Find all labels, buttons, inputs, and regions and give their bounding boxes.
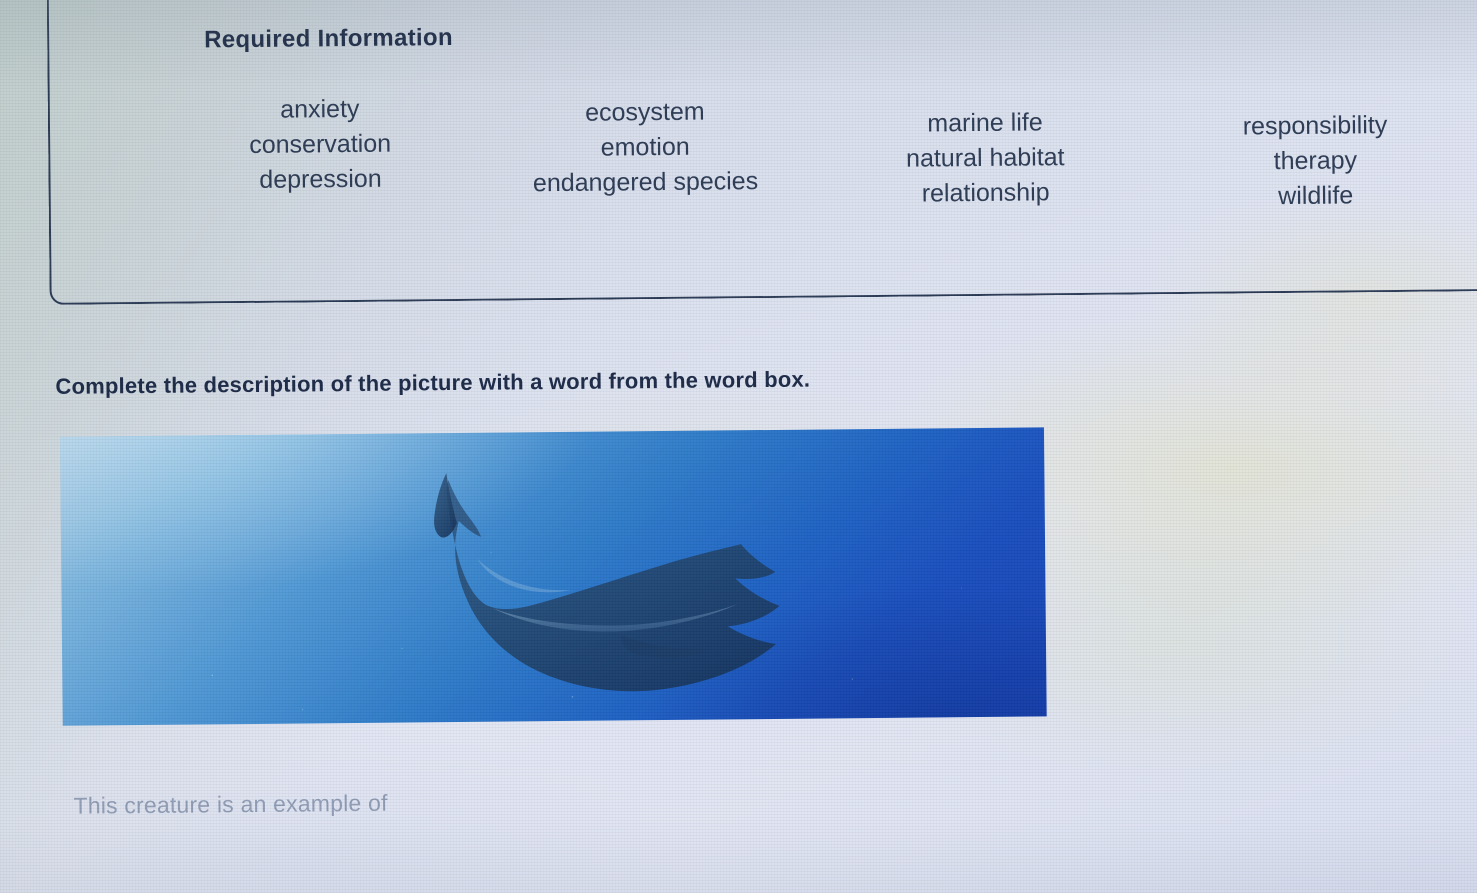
required-information-title: Required Information (204, 24, 453, 54)
word-item[interactable]: endangered species (533, 165, 758, 200)
word-column-2: ecosystem emotion endangered species (470, 81, 821, 201)
word-item[interactable]: emotion (601, 131, 690, 165)
instruction-text: Complete the description of the picture … (55, 367, 810, 400)
word-column-3: marine life natural habitat relationship (820, 77, 1151, 211)
word-item[interactable]: anxiety (280, 93, 360, 127)
word-item[interactable]: conservation (249, 128, 391, 162)
word-item[interactable]: relationship (922, 176, 1050, 210)
word-column-1: anxiety conservation depression (170, 84, 471, 198)
word-item[interactable]: marine life (927, 106, 1043, 140)
word-item[interactable]: therapy (1274, 144, 1358, 178)
whale-picture (60, 427, 1047, 725)
word-item[interactable]: wildlife (1278, 179, 1353, 213)
word-item[interactable]: depression (259, 163, 382, 197)
required-information-card: ! Required Information anxiety conservat… (46, 0, 1477, 305)
page-content: ! Required Information anxiety conservat… (0, 0, 1477, 893)
word-item[interactable]: ecosystem (585, 96, 705, 130)
word-column-4: responsibility therapy wildlife (1150, 74, 1477, 214)
whale-silhouette-icon (60, 427, 1047, 725)
word-box: anxiety conservation depression ecosyste… (170, 74, 1477, 224)
word-item[interactable]: natural habitat (906, 141, 1065, 176)
answer-prompt-text[interactable]: This creature is an example of (73, 790, 387, 820)
word-item[interactable]: responsibility (1243, 109, 1388, 143)
